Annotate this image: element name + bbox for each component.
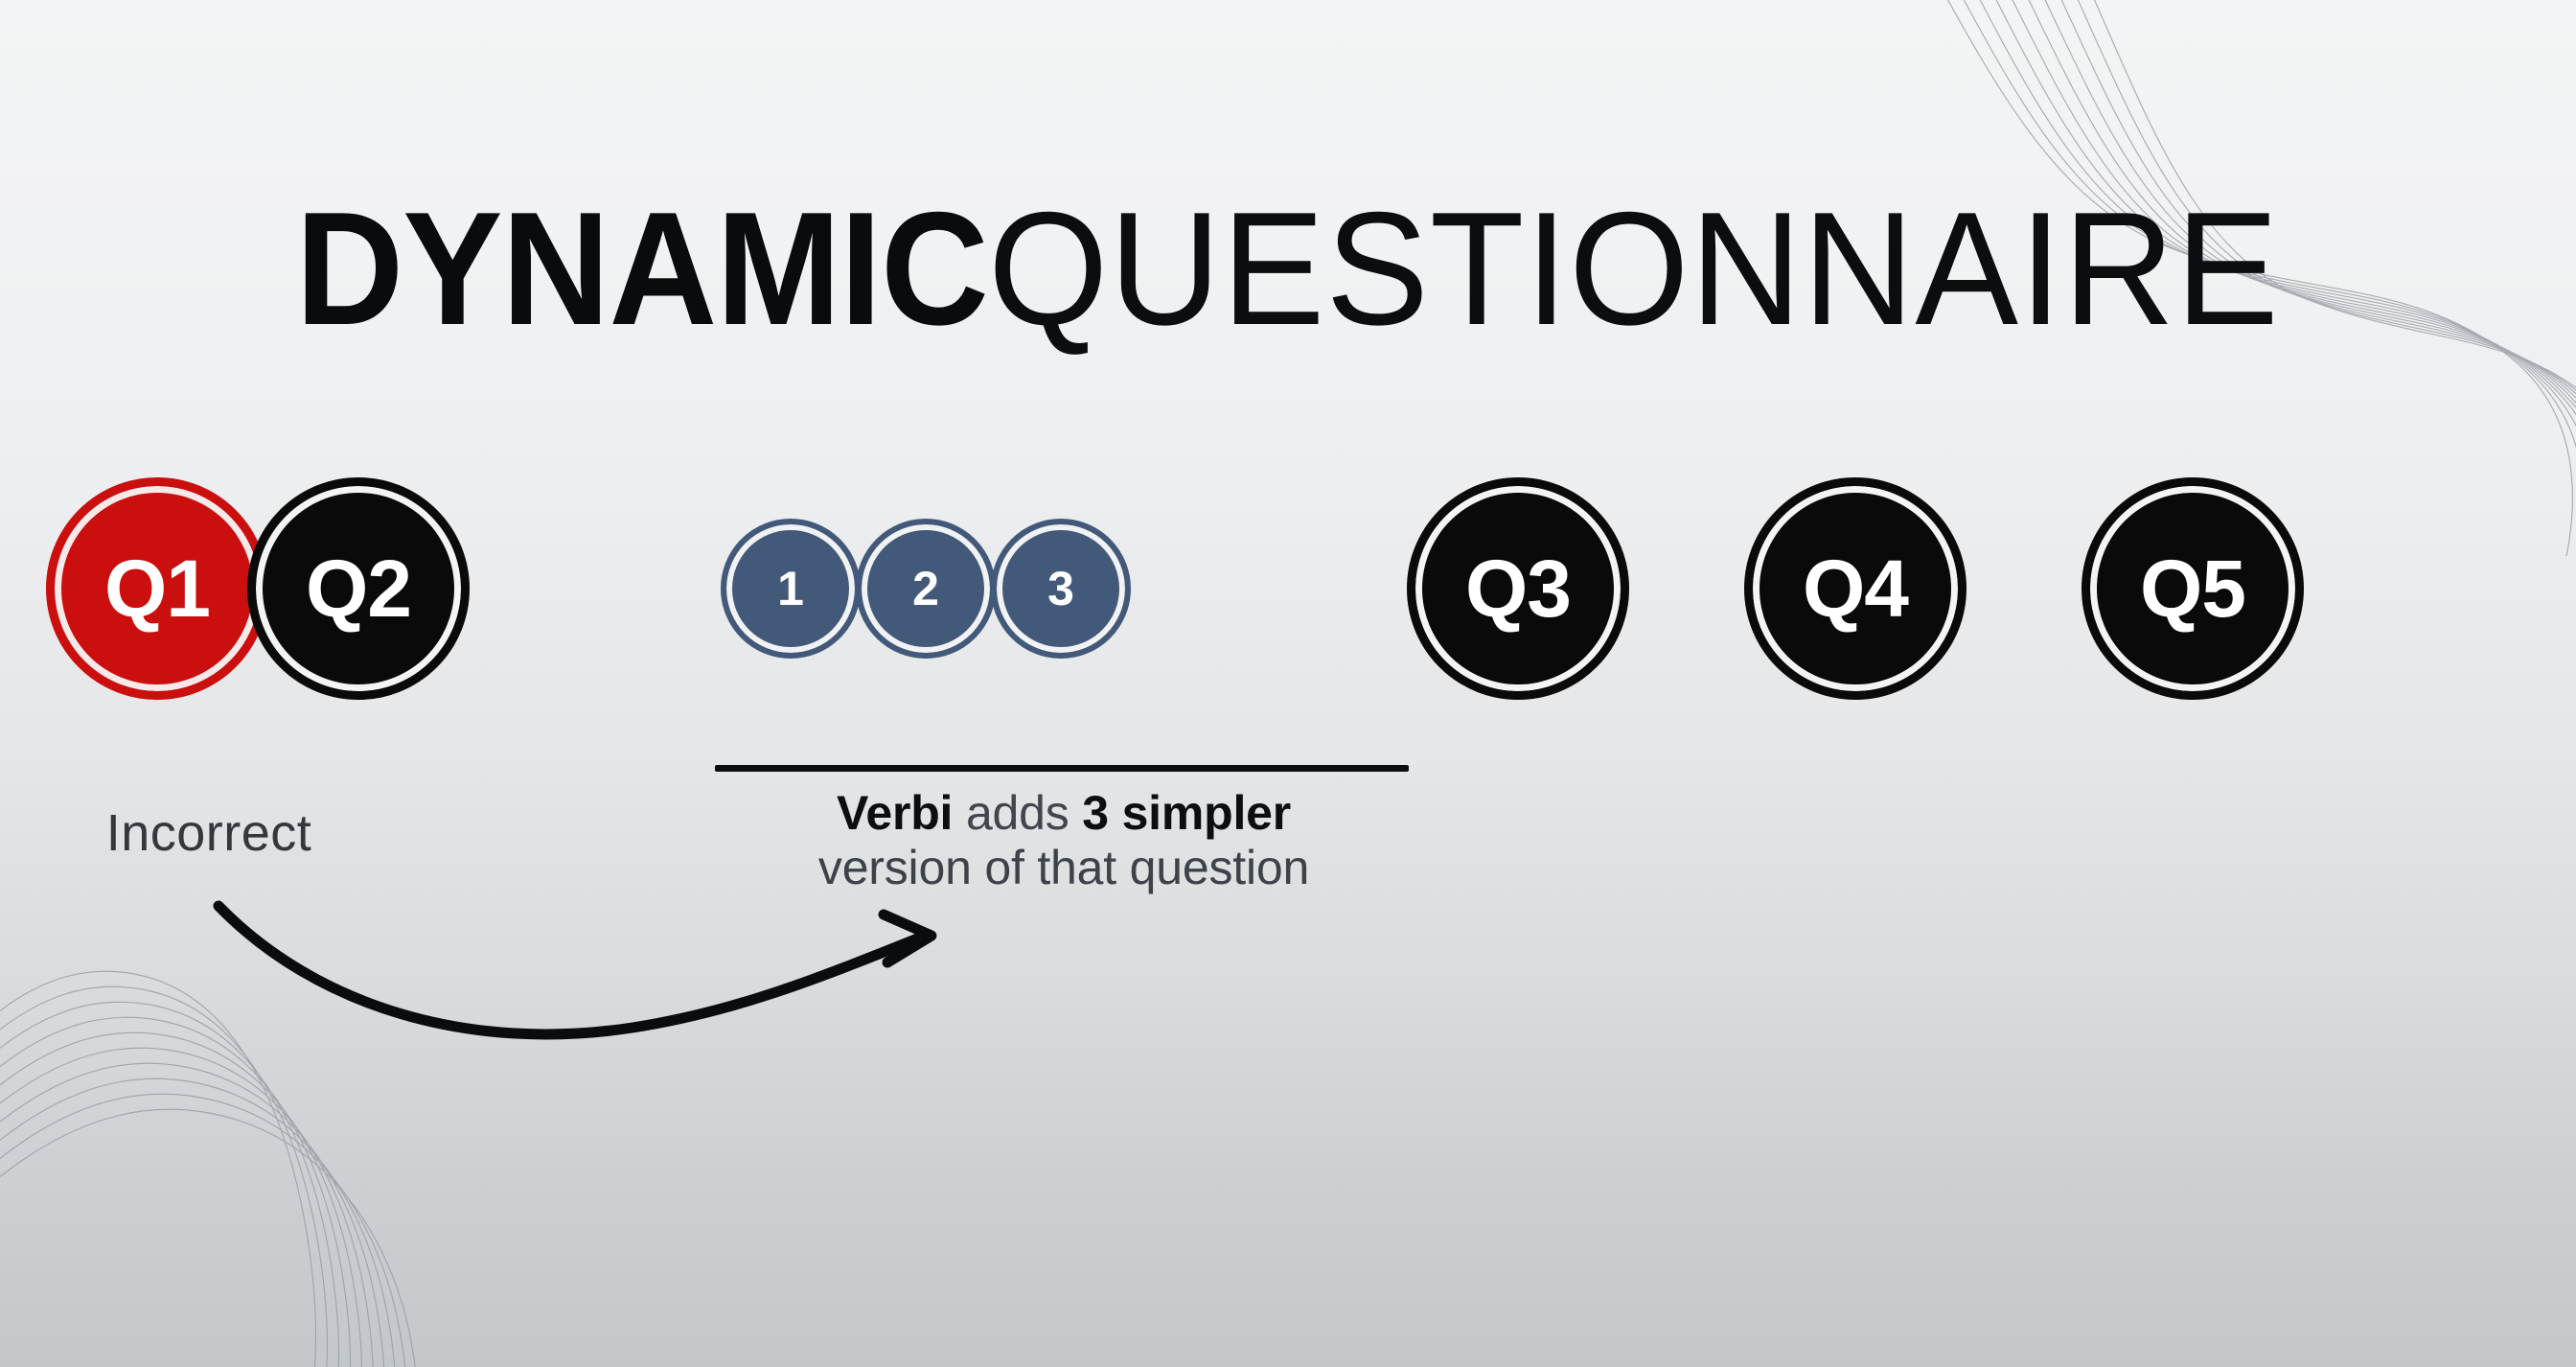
wave-lines-decoration-bottom-left: [0, 897, 632, 1367]
question-node-label: Q2: [306, 548, 411, 629]
question-node-label: Q1: [104, 548, 210, 629]
caption-line-2: version of that question: [671, 841, 1457, 895]
sub-question-node-label: 1: [777, 565, 804, 613]
question-node-q1[interactable]: Q1: [46, 477, 268, 700]
incorrect-status-label: Incorrect: [75, 803, 343, 863]
caption-text: Verbi adds 3 simpler version of that que…: [671, 786, 1457, 895]
slide-canvas: DYNAMIC QUESTIONNAIRE Q1 Q2 1 2 3 Q3 Q4 …: [0, 0, 2576, 1367]
caption-brand-name: Verbi: [837, 786, 953, 840]
sub-question-node-3[interactable]: 3: [991, 519, 1131, 659]
question-node-q3[interactable]: Q3: [1407, 477, 1629, 700]
title-bold-word: DYNAMIC: [295, 188, 988, 349]
question-node-label: Q5: [2140, 548, 2245, 629]
caption-line-1: Verbi adds 3 simpler: [671, 786, 1457, 841]
question-node-q5[interactable]: Q5: [2081, 477, 2304, 700]
page-title: DYNAMIC QUESTIONNAIRE: [0, 188, 2576, 349]
caption-divider-rule: [715, 765, 1409, 772]
question-node-label: Q4: [1803, 548, 1908, 629]
question-node-q4[interactable]: Q4: [1744, 477, 1966, 700]
question-node-q2[interactable]: Q2: [247, 477, 470, 700]
sub-question-node-2[interactable]: 2: [856, 519, 996, 659]
sub-question-node-label: 2: [912, 565, 939, 613]
sub-question-node-1[interactable]: 1: [721, 519, 861, 659]
caption-connector: adds: [953, 786, 1082, 840]
title-light-word: QUESTIONNAIRE: [988, 188, 2280, 349]
question-node-label: Q3: [1465, 548, 1571, 629]
caption-count-emphasis: 3 simpler: [1082, 786, 1291, 840]
sub-question-node-label: 3: [1047, 565, 1074, 613]
